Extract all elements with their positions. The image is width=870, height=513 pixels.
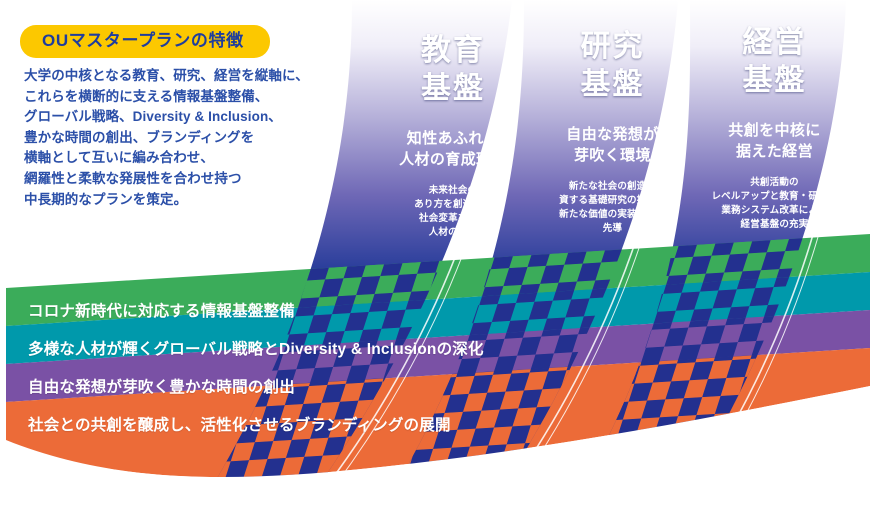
summary-line: グローバル戦略、Diversity & Inclusion、 [24,107,344,128]
summary-paragraph: 大学の中核となる教育、研究、経営を縦軸に、 これらを横断的に支える情報基盤整備、… [24,66,344,210]
feature-badge: OUマスタープランの特徴 [20,25,270,58]
summary-line: 大学の中核となる教育、研究、経営を縦軸に、 [24,66,344,87]
summary-line: これらを横断的に支える情報基盤整備、 [24,87,344,108]
summary-line: 横軸として互いに編み合わせ、 [24,148,344,169]
summary-line: 網羅性と柔軟な発展性を合わせ持つ [24,169,344,190]
infographic-canvas: OUマスタープランの特徴 大学の中核となる教育、研究、経営を縦軸に、 これらを横… [0,0,870,513]
summary-line: 中長期的なプランを策定。 [24,190,344,211]
summary-line: 豊かな時間の創出、ブランディングを [24,128,344,149]
left-summary-panel: OUマスタープランの特徴 大学の中核となる教育、研究、経営を縦軸に、 これらを横… [0,0,350,250]
